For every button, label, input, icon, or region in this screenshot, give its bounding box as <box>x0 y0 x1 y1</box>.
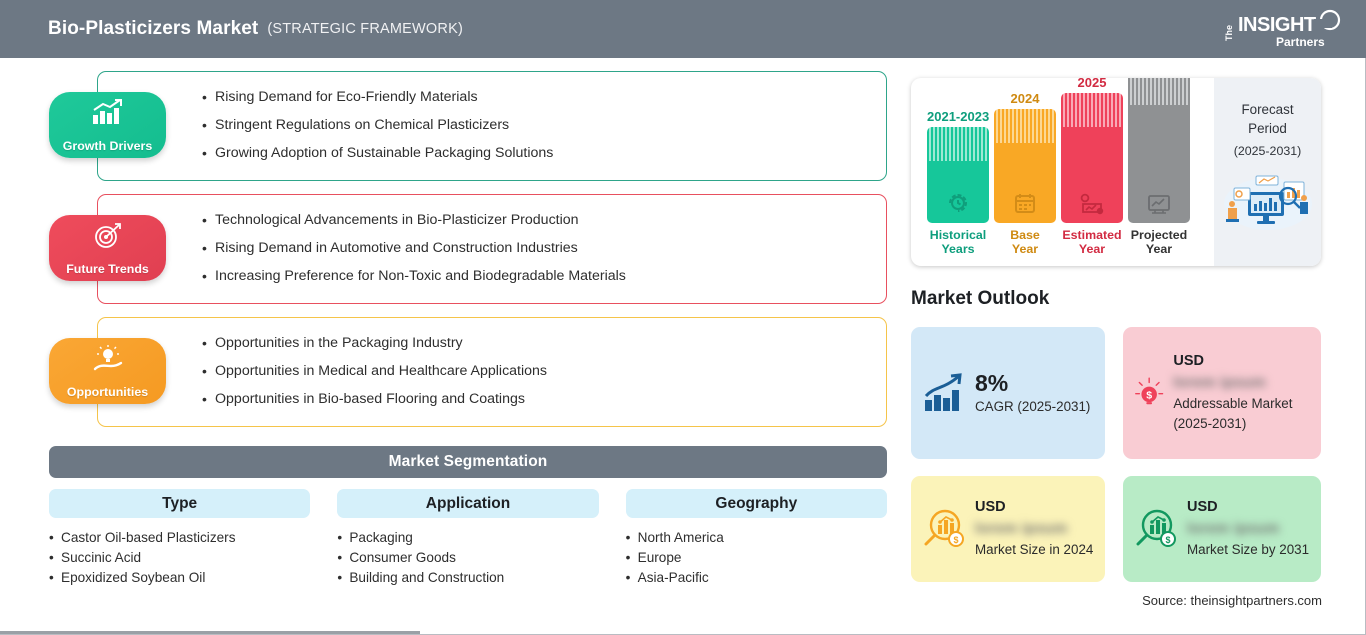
card-usd-label: USD <box>1173 353 1311 369</box>
svg-text:$: $ <box>1165 535 1170 545</box>
bar-solid <box>994 143 1056 223</box>
forecast-period-card: 2021-2023 Historical Years <box>911 78 1321 266</box>
panel-future-trends: Technological Advancements in Bio-Plasti… <box>97 194 887 304</box>
card-market-size-2031: $ USD lorem ipsum Market Size by 2031 <box>1123 476 1321 582</box>
badge-opportunities[interactable]: Opportunities <box>49 338 166 404</box>
list-item: Technological Advancements in Bio-Plasti… <box>202 206 886 234</box>
segment-list: North America Europe Asia-Pacific <box>626 528 887 588</box>
forecast-period-panel: Forecast Period (2025-2031) <box>1214 78 1321 266</box>
list-item: Opportunities in Bio-based Flooring and … <box>202 385 886 413</box>
bar-solid <box>927 161 989 223</box>
card-caption: Addressable Market (2025-2031) <box>1173 394 1311 434</box>
segmentation-column-geography: Geography North America Europe Asia-Paci… <box>626 489 887 588</box>
panel-growth-drivers: Rising Demand for Eco-Friendly Materials… <box>97 71 887 181</box>
right-column: 2021-2023 Historical Years <box>905 58 1366 635</box>
card-addressable-market: $ USD lorem ipsum Addressable Market (20… <box>1123 327 1321 459</box>
segment-list: Packaging Consumer Goods Building and Co… <box>337 528 598 588</box>
bar-chart-growth-icon <box>91 99 125 125</box>
bar-label: Base Year <box>994 228 1056 256</box>
bar-label: Historical Years <box>927 228 989 256</box>
segment-header: Geography <box>626 489 887 518</box>
panel-opportunities: Opportunities in the Packaging Industry … <box>97 317 887 427</box>
calendar-icon <box>1013 191 1037 215</box>
bar-solid <box>1061 127 1123 223</box>
forecast-period-title: Forecast Period <box>1214 100 1321 138</box>
lightbulb-hand-icon <box>91 345 125 373</box>
list-item: Opportunities in Medical and Healthcare … <box>202 357 886 385</box>
forecast-bar-base: 2024 Base Year <box>994 91 1056 256</box>
card-blurred-value: lorem ipsum <box>1187 520 1309 536</box>
segment-header: Type <box>49 489 310 518</box>
card-market-size-2024: $ USD lorem ipsum Market Size in 2024 <box>911 476 1105 582</box>
source-label: Source: theinsightpartners.com <box>1142 593 1322 608</box>
clock-history-icon <box>946 191 970 215</box>
badge-label: Growth Drivers <box>63 139 153 153</box>
target-dart-icon <box>93 222 123 249</box>
forecast-bars: 2021-2023 Historical Years <box>927 78 1217 266</box>
market-outlook-title: Market Outlook <box>911 288 1049 310</box>
future-trends-list: Technological Advancements in Bio-Plasti… <box>202 206 886 290</box>
page-title: Bio-Plasticizers Market <box>48 18 258 40</box>
forecast-period-range: (2025-2031) <box>1214 144 1321 158</box>
bar-label: Estimated Year <box>1061 228 1123 256</box>
badge-label: Opportunities <box>67 385 148 399</box>
svg-text:Partners: Partners <box>1276 35 1325 49</box>
list-item: Epoxidized Soybean Oil <box>49 568 310 588</box>
svg-text:INSIGHT: INSIGHT <box>1238 14 1316 36</box>
bar-chart-arrow-icon <box>921 372 967 414</box>
forecast-bar-estimated: 2025 Estimated Year <box>1061 78 1123 256</box>
cagr-caption: CAGR (2025-2031) <box>975 397 1090 417</box>
card-blurred-value: lorem ipsum <box>1173 374 1311 390</box>
list-item: Increasing Preference for Non-Toxic and … <box>202 262 886 290</box>
monitor-chart-icon <box>1146 193 1172 215</box>
analytics-team-illustration <box>1218 166 1318 232</box>
list-item: Succinic Acid <box>49 548 310 568</box>
segmentation-columns: Type Castor Oil-based Plasticizers Succi… <box>49 489 887 588</box>
list-item: North America <box>626 528 887 548</box>
segmentation-column-type: Type Castor Oil-based Plasticizers Succi… <box>49 489 310 588</box>
segmentation-column-application: Application Packaging Consumer Goods Bui… <box>337 489 598 588</box>
bar-stripes <box>994 109 1056 143</box>
bar-year-label: 2024 <box>994 91 1056 106</box>
card-caption: Market Size by 2031 <box>1187 540 1309 560</box>
forecast-bar-projected: 2031 Projected Year <box>1128 78 1190 256</box>
bar-stripes <box>1128 78 1190 105</box>
bar-solid <box>1128 105 1190 223</box>
card-cagr: 8% CAGR (2025-2031) <box>911 327 1105 459</box>
card-usd-label: USD <box>1187 499 1309 515</box>
list-item: Growing Adoption of Sustainable Packagin… <box>202 139 886 167</box>
market-segmentation-title: Market Segmentation <box>49 446 887 478</box>
magnifier-chart-dollar-icon: $ <box>921 507 967 551</box>
svg-text:$: $ <box>1146 390 1152 402</box>
segment-header: Application <box>337 489 598 518</box>
list-item: Stringent Regulations on Chemical Plasti… <box>202 111 886 139</box>
badge-future-trends[interactable]: Future Trends <box>49 215 166 281</box>
infographic-page: Bio-Plasticizers Market (STRATEGIC FRAME… <box>0 0 1366 635</box>
segment-list: Castor Oil-based Plasticizers Succinic A… <box>49 528 310 588</box>
card-caption: Market Size in 2024 <box>975 540 1093 560</box>
bar-stripes <box>1061 93 1123 127</box>
badge-growth-drivers[interactable]: Growth Drivers <box>49 92 166 158</box>
svg-text:The: The <box>1224 25 1234 41</box>
bar-label: Projected Year <box>1128 228 1190 256</box>
forecast-bar-historical: 2021-2023 Historical Years <box>927 109 989 256</box>
horizontal-scrollbar[interactable] <box>0 631 420 634</box>
bar-year-label: 2025 <box>1061 78 1123 90</box>
page-subtitle: (STRATEGIC FRAMEWORK) <box>267 21 463 37</box>
list-item: Building and Construction <box>337 568 598 588</box>
cagr-value: 8% <box>975 370 1090 397</box>
list-item: Castor Oil-based Plasticizers <box>49 528 310 548</box>
bar-stripes <box>927 127 989 161</box>
magnifier-chart-dollar-icon: $ <box>1133 507 1179 551</box>
lightbulb-dollar-icon: $ <box>1133 370 1165 416</box>
list-item: Packaging <box>337 528 598 548</box>
growth-drivers-list: Rising Demand for Eco-Friendly Materials… <box>202 83 886 167</box>
card-blurred-value: lorem ipsum <box>975 520 1093 536</box>
opportunities-list: Opportunities in the Packaging Industry … <box>202 329 886 413</box>
bar-year-label: 2021-2023 <box>927 109 989 124</box>
list-item: Europe <box>626 548 887 568</box>
card-usd-label: USD <box>975 499 1093 515</box>
list-item: Consumer Goods <box>337 548 598 568</box>
list-item: Asia-Pacific <box>626 568 887 588</box>
left-column: Rising Demand for Eco-Friendly Materials… <box>0 58 905 635</box>
list-item: Rising Demand in Automotive and Construc… <box>202 234 886 262</box>
list-item: Rising Demand for Eco-Friendly Materials <box>202 83 886 111</box>
badge-label: Future Trends <box>66 262 149 276</box>
page-header: Bio-Plasticizers Market (STRATEGIC FRAME… <box>0 0 1366 58</box>
svg-text:$: $ <box>953 535 958 545</box>
list-item: Opportunities in the Packaging Industry <box>202 329 886 357</box>
insight-partners-logo: The INSIGHT Partners <box>1218 7 1346 51</box>
gear-chart-icon <box>1079 193 1105 215</box>
